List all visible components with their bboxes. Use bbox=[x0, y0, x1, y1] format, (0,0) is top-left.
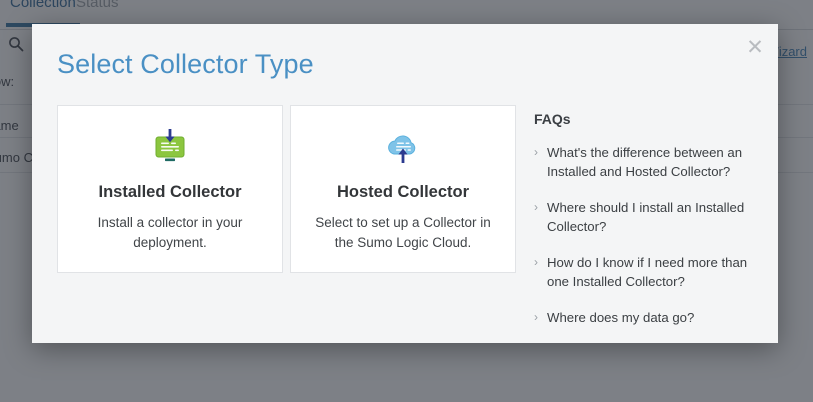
chevron-right-icon: › bbox=[534, 198, 538, 217]
faq-link-1[interactable]: › What's the difference between an Insta… bbox=[534, 143, 764, 181]
faq-label: What's the difference between an Install… bbox=[547, 145, 742, 179]
installed-collector-icon bbox=[148, 127, 192, 171]
card-description: Install a collector in your deployment. bbox=[75, 213, 265, 253]
dialog-title: Select Collector Type bbox=[57, 49, 314, 80]
chevron-right-icon: › bbox=[534, 143, 538, 162]
screen: Collection Status Search Wizard Show: Na… bbox=[0, 0, 813, 402]
hosted-collector-card[interactable]: Hosted Collector Select to set up a Coll… bbox=[290, 105, 516, 273]
faqs-panel: FAQs › What's the difference between an … bbox=[534, 111, 764, 344]
faq-link-3[interactable]: › How do I know if I need more than one … bbox=[534, 253, 764, 291]
hosted-collector-icon bbox=[381, 127, 425, 171]
faq-link-4[interactable]: › Where does my data go? bbox=[534, 308, 764, 327]
faq-label: Where does my data go? bbox=[547, 310, 694, 325]
faq-link-2[interactable]: › Where should I install an Installed Co… bbox=[534, 198, 764, 236]
installed-collector-card[interactable]: Installed Collector Install a collector … bbox=[57, 105, 283, 273]
card-description: Select to set up a Collector in the Sumo… bbox=[308, 213, 498, 253]
faq-label: How do I know if I need more than one In… bbox=[547, 255, 747, 289]
card-title: Installed Collector bbox=[98, 183, 241, 202]
close-icon[interactable]: ✕ bbox=[743, 36, 767, 60]
card-title: Hosted Collector bbox=[337, 183, 469, 202]
faq-label: Where should I install an Installed Coll… bbox=[547, 200, 744, 234]
chevron-right-icon: › bbox=[534, 253, 538, 272]
faqs-heading: FAQs bbox=[534, 111, 764, 127]
collector-type-cards: Installed Collector Install a collector … bbox=[57, 105, 516, 273]
chevron-right-icon: › bbox=[534, 308, 538, 327]
select-collector-type-dialog: ✕ Select Collector Type bbox=[32, 24, 778, 343]
dialog-body: Installed Collector Install a collector … bbox=[32, 105, 778, 343]
